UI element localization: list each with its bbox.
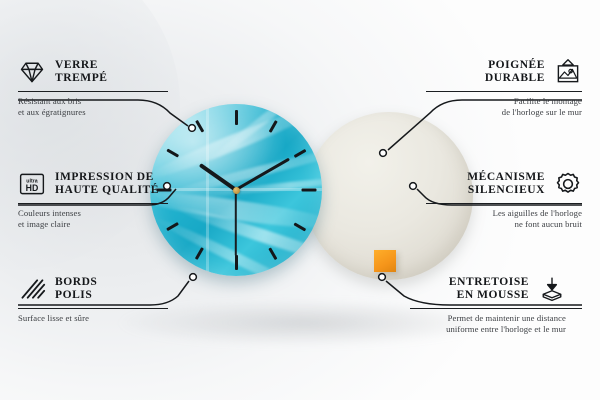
clock-face[interactable] — [150, 104, 322, 276]
picture-hanger-icon — [554, 58, 582, 86]
hour-marker-7 — [195, 247, 204, 260]
feature-sub-line1: Les aiguilles de l'horloge — [493, 208, 582, 218]
feature-mecanisme-silencieux[interactable]: MÉCANISME SILENCIEUX Les aiguilles de l'… — [426, 170, 582, 230]
hands-center-hub — [233, 187, 240, 194]
feature-divider — [426, 203, 582, 204]
feature-title-line2: SILENCIEUX — [468, 184, 545, 196]
feature-entretoise-en-mousse[interactable]: ENTRETOISE EN MOUSSE Permet de maintenir… — [410, 275, 582, 335]
ultra-hd-icon: ultra HD — [18, 170, 46, 198]
feature-sub-line1: Résistant aux bris — [18, 96, 81, 106]
feature-divider — [18, 91, 168, 92]
feature-impression-haute-qualite[interactable]: ultra HD IMPRESSION DE HAUTE QUALITÉ Cou… — [18, 170, 168, 230]
feature-title-line1: ENTRETOISE — [449, 276, 529, 288]
diamond-icon — [18, 58, 46, 86]
feature-title-line2: DURABLE — [485, 72, 545, 84]
hour-marker-5 — [268, 247, 277, 260]
feature-divider — [18, 308, 168, 309]
feature-title-line2: POLIS — [55, 289, 92, 301]
feature-sub-line2: uniforme entre l'horloge et le mur — [446, 324, 566, 334]
feature-divider — [410, 308, 582, 309]
svg-text:HD: HD — [26, 183, 39, 193]
feature-title-line1: POIGNÉE — [488, 59, 545, 71]
feature-divider — [426, 91, 582, 92]
second-hand — [235, 190, 237, 256]
feature-title-line1: VERRE — [55, 59, 98, 71]
feature-title-line2: HAUTE QUALITÉ — [55, 184, 159, 196]
feature-sub-line1: Couleurs intenses — [18, 208, 81, 218]
feature-sub-line2: de l'horloge sur le mur — [502, 107, 582, 117]
feature-bords-polis[interactable]: BORDS POLIS Surface lisse et sûre — [18, 275, 168, 324]
feature-poignee-durable[interactable]: POIGNÉE DURABLE Facilite le montage de l… — [426, 58, 582, 118]
feature-divider — [18, 203, 168, 204]
feature-sub-line2: ne font aucun bruit — [515, 219, 582, 229]
infographic-canvas: VERRE TREMPÉ Résistant aux bris et aux é… — [0, 0, 600, 400]
feature-sub-line1: Facilite le montage — [514, 96, 582, 106]
foam-spacer-icon — [538, 275, 566, 303]
feature-title-line1: BORDS — [55, 276, 97, 288]
hour-marker-6 — [235, 255, 238, 270]
feature-sub-line1: Permet de maintenir une distance — [448, 313, 566, 323]
feature-title-line2: TREMPÉ — [55, 72, 108, 84]
polished-edges-icon — [18, 275, 46, 303]
feature-title-line2: EN MOUSSE — [457, 289, 529, 301]
hour-marker-3 — [301, 189, 316, 192]
hour-marker-12 — [235, 110, 238, 125]
feature-sub-line2: et image claire — [18, 219, 70, 229]
feature-sub-line2: et aux égratignures — [18, 107, 86, 117]
feature-title-line1: MÉCANISME — [467, 171, 545, 183]
feature-verre-trempe[interactable]: VERRE TREMPÉ Résistant aux bris et aux é… — [18, 58, 168, 118]
gear-icon — [554, 170, 582, 198]
feature-sub-line1: Surface lisse et sûre — [18, 313, 89, 323]
feature-title-line1: IMPRESSION DE — [55, 171, 154, 183]
foam-spacer — [374, 250, 396, 272]
connector-endpoint-bords-polis — [190, 274, 197, 281]
glass-gloss-highlight — [150, 104, 280, 214]
